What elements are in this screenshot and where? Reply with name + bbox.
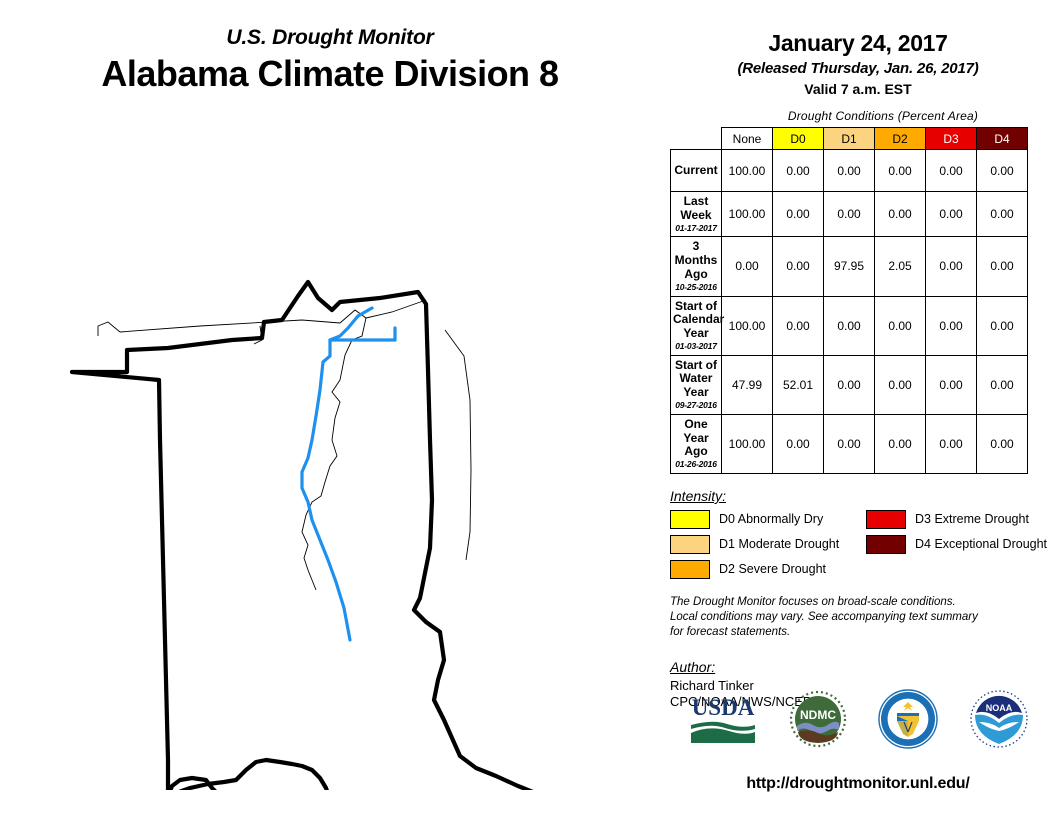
cell-d4: 0.00 [977,150,1028,192]
cell-d2: 2.05 [875,237,926,296]
right-panel: January 24, 2017 (Released Thursday, Jan… [660,0,1056,816]
cell-none: 100.00 [722,296,773,355]
cell-d3: 0.00 [926,237,977,296]
valid-time: Valid 7 a.m. EST [660,81,1056,97]
cell-d2: 0.00 [875,414,926,473]
cell-d3: 0.00 [926,192,977,237]
table-header-d4: D4 [977,128,1028,150]
disclaimer-line-1: The Drought Monitor focuses on broad-sca… [670,595,1020,610]
cell-d2: 0.00 [875,150,926,192]
legend-entry-d2: D2 Severe Drought [670,560,866,579]
legend-entry-d3: D3 Extreme Drought [866,510,1056,529]
drought-map[interactable] [40,140,640,790]
table-body: Current100.000.000.000.000.000.00Last We… [671,150,1028,474]
row-label: 3 Months Ago10-25-2016 [671,237,722,296]
table-header-d0: D0 [773,128,824,150]
title-block: U.S. Drought Monitor Alabama Climate Div… [0,26,660,94]
cell-d1: 97.95 [824,237,875,296]
row-date: 01-17-2017 [673,224,719,234]
legend-swatch-d4 [866,535,906,554]
table-caption: Drought Conditions (Percent Area) [660,109,1056,123]
logo-row: USDA NDMC [660,688,1056,755]
table-row: One Year Ago01-26-2016100.000.000.000.00… [671,414,1028,473]
row-date: 10-25-2016 [673,283,719,293]
site-url[interactable]: http://droughtmonitor.unl.edu/ [660,775,1056,793]
cell-d3: 0.00 [926,414,977,473]
row-label: Last Week01-17-2017 [671,192,722,237]
disclaimer-line-3: for forecast statements. [670,625,1020,640]
cell-d2: 0.00 [875,192,926,237]
row-date: 09-27-2016 [673,401,719,411]
cell-d1: 0.00 [824,150,875,192]
legend-entry-d4: D4 Exceptional Drought [866,535,1056,554]
row-date: 01-26-2016 [673,460,719,470]
legend-swatch-d2 [670,560,710,579]
noaa-wordmark: NOAA [986,703,1013,713]
row-label: One Year Ago01-26-2016 [671,414,722,473]
cell-d1: 0.00 [824,192,875,237]
river-line [302,308,395,640]
legend-swatch-d3 [866,510,906,529]
valid-date: January 24, 2017 [660,30,1056,57]
legend-entry-d0: D0 Abnormally Dry [670,510,866,529]
cell-d0: 0.00 [773,414,824,473]
program-title: U.S. Drought Monitor [0,26,660,49]
cell-none: 100.00 [722,150,773,192]
cell-none: 0.00 [722,237,773,296]
page-title: Alabama Climate Division 8 [0,53,660,94]
released-date: (Released Thursday, Jan. 26, 2017) [660,60,1056,77]
legend-label-d4: D4 Exceptional Drought [915,537,1047,551]
author-title: Author: [670,659,1056,675]
legend-label-d1: D1 Moderate Drought [719,537,839,551]
legend-swatch-d0 [670,510,710,529]
cell-d4: 0.00 [977,192,1028,237]
table-row: Last Week01-17-2017100.000.000.000.000.0… [671,192,1028,237]
cell-d4: 0.00 [977,296,1028,355]
cell-d1: 0.00 [824,414,875,473]
row-date: 01-03-2017 [673,342,719,352]
cell-d4: 0.00 [977,355,1028,414]
legend-label-d2: D2 Severe Drought [719,562,826,576]
county-lines [98,300,471,590]
table-row: 3 Months Ago10-25-20160.000.0097.952.050… [671,237,1028,296]
ndmc-wordmark: NDMC [800,708,836,722]
row-label: Start ofWater Year09-27-2016 [671,355,722,414]
intensity-legend: Intensity: D0 Abnormally DryD3 Extreme D… [670,488,1040,579]
cell-d1: 0.00 [824,355,875,414]
table-row: Current100.000.000.000.000.000.00 [671,150,1028,192]
table-corner-cell [671,128,722,150]
legend-label-d3: D3 Extreme Drought [915,512,1029,526]
noaa-logo[interactable]: NOAA [969,689,1029,754]
cell-none: 100.00 [722,192,773,237]
row-label: Start ofCalendar Year01-03-2017 [671,296,722,355]
row-label: Current [671,150,722,192]
cell-d0: 0.00 [773,150,824,192]
table-header-d3: D3 [926,128,977,150]
intensity-title: Intensity: [670,488,1040,504]
cell-d0: 0.00 [773,296,824,355]
usda-logo[interactable]: USDA [687,691,759,752]
cell-d0: 0.00 [773,237,824,296]
cell-none: 100.00 [722,414,773,473]
division-boundary [72,282,560,790]
legend-grid: D0 Abnormally DryD3 Extreme DroughtD1 Mo… [670,510,1040,579]
table-header-d2: D2 [875,128,926,150]
drought-conditions-table: NoneD0D1D2D3D4 Current100.000.000.000.00… [670,127,1028,474]
legend-entry-d1: D1 Moderate Drought [670,535,866,554]
cell-d4: 0.00 [977,414,1028,473]
map-svg [40,140,640,790]
cell-d3: 0.00 [926,150,977,192]
cell-none: 47.99 [722,355,773,414]
table-row: Start ofWater Year09-27-201647.9952.010.… [671,355,1028,414]
date-block: January 24, 2017 (Released Thursday, Jan… [660,0,1056,97]
legend-label-d0: D0 Abnormally Dry [719,512,823,526]
cell-d3: 0.00 [926,296,977,355]
legend-swatch-d1 [670,535,710,554]
cell-d0: 52.01 [773,355,824,414]
usda-wordmark: USDA [692,695,755,720]
cell-d3: 0.00 [926,355,977,414]
disclaimer-text: The Drought Monitor focuses on broad-sca… [670,595,1020,641]
cell-d0: 0.00 [773,192,824,237]
table-header-d1: D1 [824,128,875,150]
cell-d2: 0.00 [875,296,926,355]
usdc-seal[interactable] [877,688,939,755]
ndmc-logo[interactable]: NDMC [789,690,847,753]
cell-d4: 0.00 [977,237,1028,296]
cell-d2: 0.00 [875,355,926,414]
disclaimer-line-2: Local conditions may vary. See accompany… [670,610,1020,625]
table-header-row: NoneD0D1D2D3D4 [671,128,1028,150]
table-row: Start ofCalendar Year01-03-2017100.000.0… [671,296,1028,355]
table-header-none: None [722,128,773,150]
cell-d1: 0.00 [824,296,875,355]
